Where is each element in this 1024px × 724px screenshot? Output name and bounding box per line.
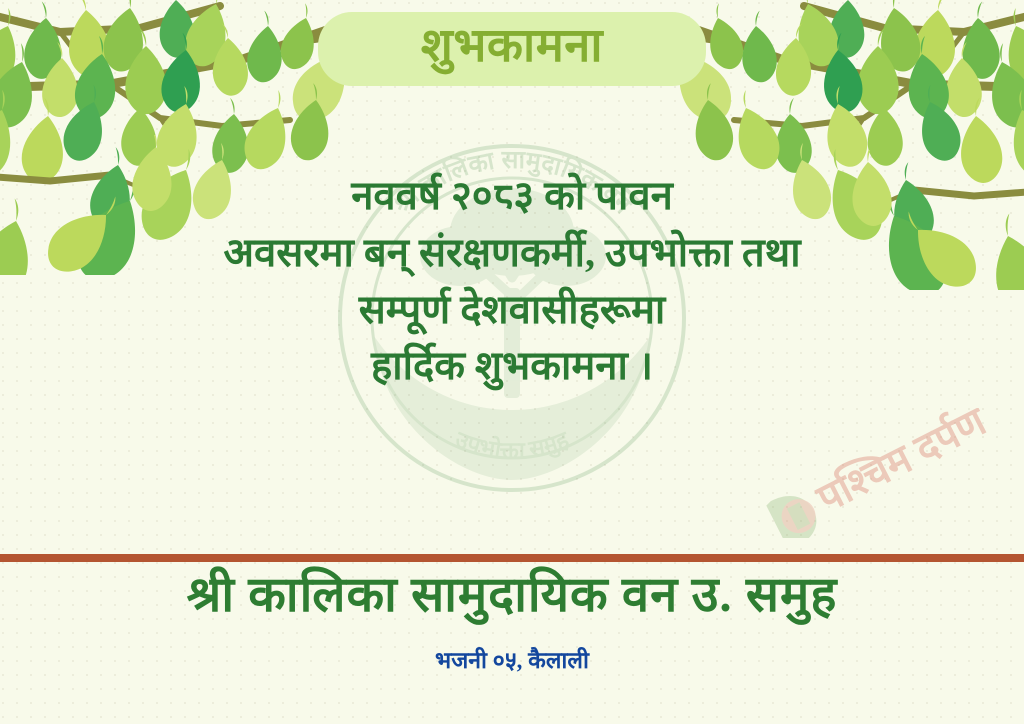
svg-text:उपभोक्ता समुह: उपभोक्ता समुह — [451, 426, 573, 463]
section-divider — [0, 554, 1024, 562]
greeting-card: श्री कालिका सामुदायिक वन उपभोक्ता समुह प… — [0, 0, 1024, 724]
organization-address: भजनी ०५, कैलाली — [0, 647, 1024, 675]
message-line-4: हार्दिक शुभकामना । — [0, 338, 1024, 395]
message-line-3: सम्पूर्ण देशवासीहरूमा — [0, 282, 1024, 339]
seal-ring-text-bottom: उपभोक्ता समुह — [451, 426, 573, 463]
press-mark-icon — [765, 485, 841, 538]
footer-area: श्री कालिका सामुदायिक वन उ. समुह भजनी ०५… — [0, 566, 1024, 674]
message-line-1: नववर्ष २०८३ को पावन — [0, 168, 1024, 225]
title-area: शुभकामना — [0, 12, 1024, 86]
message-line-2: अवसरमा बन् संरक्षणकर्मी, उपभोक्ता तथा — [0, 225, 1024, 282]
press-watermark-text: पश्चिम दर्पण — [809, 408, 995, 522]
greeting-message: नववर्ष २०८३ को पावन अवसरमा बन् संरक्षणकर… — [0, 168, 1024, 395]
organization-name: श्री कालिका सामुदायिक वन उ. समुह — [0, 566, 1024, 625]
title-pill: शुभकामना — [318, 12, 706, 86]
press-logo-watermark: पश्चिम दर्पण — [756, 408, 1006, 538]
page-title: शुभकामना — [362, 18, 662, 74]
